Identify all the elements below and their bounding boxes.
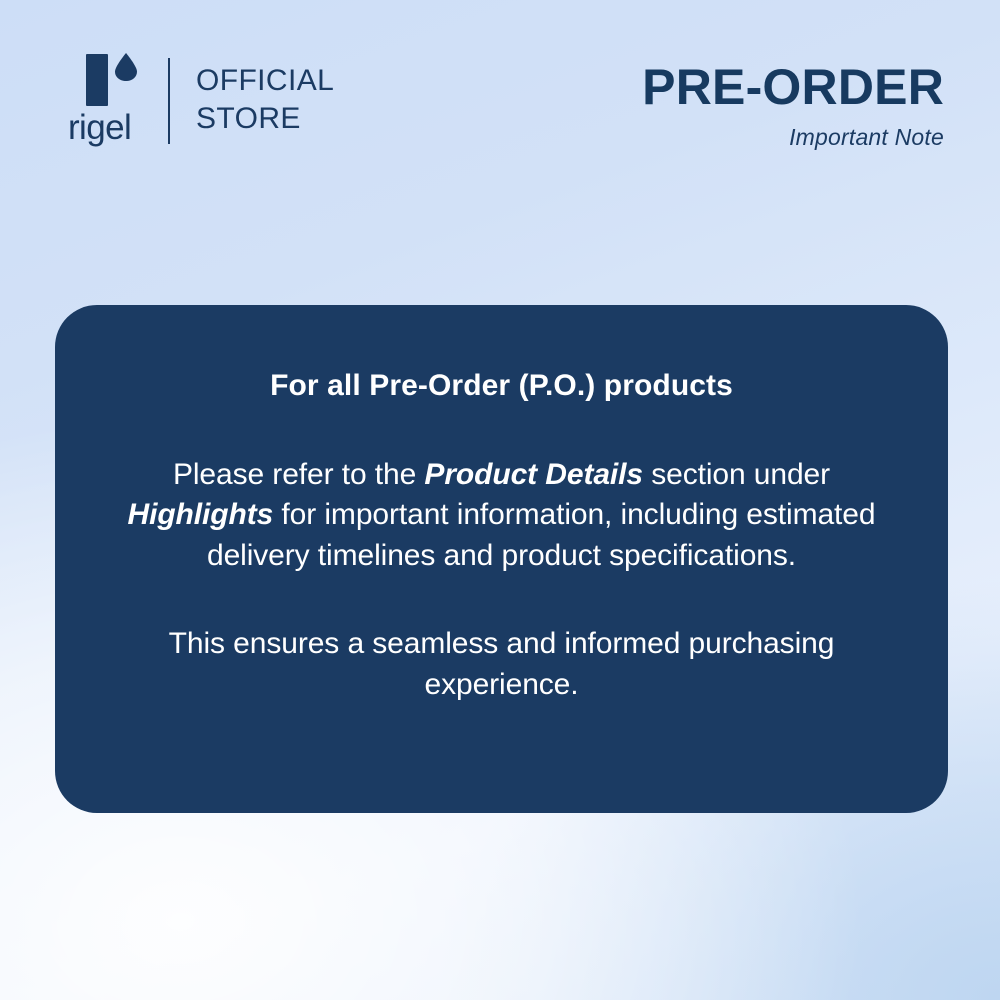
page-title: PRE-ORDER <box>642 62 944 112</box>
notice-heading: For all Pre-Order (P.O.) products <box>117 367 886 405</box>
notice-card: For all Pre-Order (P.O.) products Please… <box>55 305 948 813</box>
paragraph-1-part-3: for important information, including est… <box>207 498 875 572</box>
paragraph-1-part-1: Please refer to the <box>173 458 424 491</box>
headline-block: PRE-ORDER Important Note <box>642 62 944 149</box>
brand-divider <box>168 58 170 144</box>
official-store-line-1: OFFICIAL <box>196 62 334 100</box>
rigel-droplet-logo-icon <box>68 48 140 96</box>
paragraph-1-emphasis-product-details: Product Details <box>424 458 643 491</box>
promo-banner-page: rigel OFFICIAL STORE PRE-ORDER Important… <box>0 0 1000 1000</box>
banner-header: rigel OFFICIAL STORE PRE-ORDER Important… <box>0 0 1000 185</box>
official-store-label: OFFICIAL STORE <box>196 62 334 139</box>
droplet-icon <box>114 53 138 81</box>
paragraph-1-part-2: section under <box>643 458 830 491</box>
page-subtitle: Important Note <box>642 126 944 149</box>
paragraph-1-emphasis-highlights: Highlights <box>128 498 274 531</box>
official-store-line-2: STORE <box>196 100 334 138</box>
notice-paragraph-1: Please refer to the Product Details sect… <box>117 455 886 577</box>
brand-lockup: rigel OFFICIAL STORE <box>68 48 334 145</box>
brand-wordmark: rigel <box>68 110 148 145</box>
brand-logo: rigel <box>68 48 148 145</box>
logo-bar-shape <box>86 54 108 106</box>
notice-paragraph-2: This ensures a seamless and informed pur… <box>117 624 886 705</box>
